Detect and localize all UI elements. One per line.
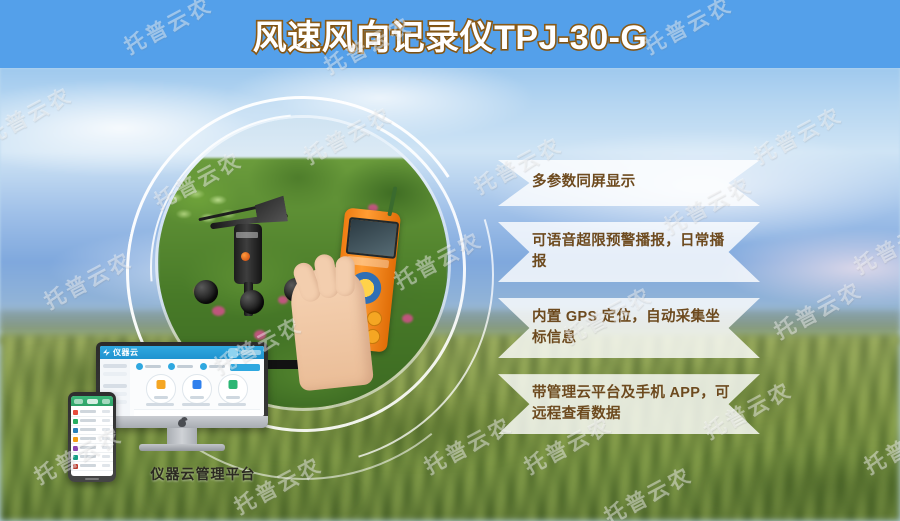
cloud-logo-icon	[103, 349, 110, 356]
sidebar-item	[103, 364, 127, 368]
recorder-button	[366, 310, 382, 326]
monitor-stand-base	[139, 444, 225, 451]
anemometer-cup-icon	[194, 280, 218, 304]
desktop-monitor: 仪器云	[96, 342, 268, 434]
feature-text: 带管理云平台及手机 APP，可远程查看数据	[532, 383, 730, 425]
list-item	[71, 417, 113, 426]
dashboard-content	[130, 359, 264, 416]
list-item	[71, 453, 113, 462]
list-item	[71, 444, 113, 453]
list-item-value	[102, 428, 110, 431]
list-item-label	[80, 464, 96, 467]
sidebar-item	[103, 372, 127, 376]
finger	[336, 256, 355, 296]
app-header	[71, 396, 113, 406]
feature-item-2: 可语音超限预警播报，日常播报	[498, 222, 760, 282]
avatar	[228, 348, 238, 358]
list-item-value	[102, 455, 110, 458]
cloud-platform-devices: 仪器云	[68, 342, 278, 482]
app-header-item	[74, 399, 83, 404]
feature-text: 可语音超限预警播报，日常播报	[532, 231, 730, 273]
feature-list: 多参数同屏显示 可语音超限预警播报，日常播报 内置 GPS 定位，自动采集坐标信…	[498, 160, 760, 450]
list-item-value	[102, 419, 110, 422]
status-icon	[73, 446, 78, 451]
list-item	[71, 408, 113, 417]
phone-home-indicator	[85, 478, 99, 480]
dashboard-toolbar	[134, 362, 260, 371]
phone-screen	[71, 396, 113, 476]
list-item	[71, 462, 113, 471]
apple-logo-icon	[178, 419, 186, 427]
page-title: 风速风向记录仪TPJ-30-G	[0, 0, 900, 68]
product-poster: 风速风向记录仪TPJ-30-G	[0, 0, 900, 521]
gauge-caption	[182, 403, 210, 406]
list-item-label	[80, 410, 96, 413]
recorder-display	[346, 217, 400, 259]
status-icon	[73, 437, 78, 442]
dashboard-logo-text: 仪器云	[113, 348, 139, 357]
list-item	[71, 426, 113, 435]
status-icon	[73, 464, 78, 469]
status-icon	[73, 428, 78, 433]
list-item-label	[80, 446, 96, 449]
sensor-gauge	[182, 374, 212, 404]
gauge-caption	[218, 403, 246, 406]
dashboard-line-chart	[134, 409, 260, 416]
status-icon	[73, 419, 78, 424]
toolbar-button	[242, 364, 260, 371]
anemometer-cup-icon	[240, 290, 264, 314]
status-icon	[73, 455, 78, 460]
sidebar-item	[103, 384, 127, 388]
list-item-value	[102, 410, 110, 413]
app-header-item	[102, 399, 110, 404]
feature-item-1: 多参数同屏显示	[498, 160, 760, 206]
devices-caption: 仪器云管理平台	[108, 464, 298, 484]
monitor-screen: 仪器云	[100, 346, 264, 416]
list-item-label	[80, 428, 96, 431]
sensor-gauge	[218, 374, 248, 404]
sensor-gauge	[146, 374, 176, 404]
list-item-label	[80, 437, 96, 440]
sensor-led-icon	[241, 252, 250, 261]
status-icon	[73, 410, 78, 415]
toolbar-item	[136, 363, 161, 370]
username-placeholder	[241, 350, 261, 355]
app-header-item	[87, 399, 98, 404]
feature-item-3: 内置 GPS 定位，自动采集坐标信息	[498, 298, 760, 358]
feature-text: 内置 GPS 定位，自动采集坐标信息	[532, 307, 730, 349]
hand-holding-device	[288, 264, 374, 391]
list-item-label	[80, 455, 96, 458]
gauge-caption	[146, 403, 174, 406]
sensor-label	[236, 232, 258, 238]
list-item-value	[102, 446, 110, 449]
list-item	[71, 435, 113, 444]
monitor-stand-neck	[167, 428, 197, 444]
toolbar-item	[168, 363, 193, 370]
list-item-value	[102, 437, 110, 440]
list-item-label	[80, 419, 96, 422]
toolbar-item	[200, 363, 225, 370]
blossom-icon	[402, 314, 413, 323]
dashboard-header: 仪器云	[100, 346, 264, 359]
wind-vane-icon	[254, 196, 288, 227]
feature-text: 多参数同屏显示	[532, 172, 636, 193]
feature-item-4: 带管理云平台及手机 APP，可远程查看数据	[498, 374, 760, 434]
